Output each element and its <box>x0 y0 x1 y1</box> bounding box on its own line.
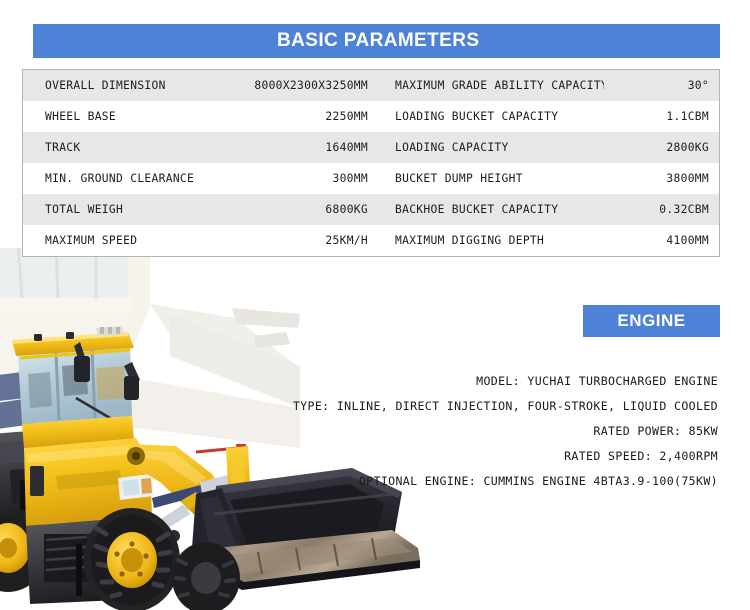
spec-value: 8000X2300X3250MM <box>223 70 374 101</box>
spec-value: 1.1CBM <box>604 101 719 132</box>
side-mirror-left <box>74 342 86 364</box>
table-row: OVERALL DIMENSION 8000X2300X3250MM MAXIM… <box>23 70 719 101</box>
spec-value: 300MM <box>223 163 374 194</box>
basic-parameters-header: BASIC PARAMETERS <box>33 24 720 58</box>
spec-label: MIN. GROUND CLEARANCE <box>23 163 223 194</box>
spec-label: LOADING CAPACITY <box>374 132 604 163</box>
engine-title: ENGINE <box>617 311 685 331</box>
spec-value: 3800MM <box>604 163 719 194</box>
engine-spec-line: MODEL: YUCHAI TURBOCHARGED ENGINE <box>150 369 718 394</box>
table-row: MAXIMUM SPEED 25KM/H MAXIMUM DIGGING DEP… <box>23 225 719 256</box>
table-row: TRACK 1640MM LOADING CAPACITY 2800KG <box>23 132 719 163</box>
rear-chassis <box>0 428 96 516</box>
spec-label: MAXIMUM DIGGING DEPTH <box>374 225 604 256</box>
spec-label: TOTAL WEIGH <box>23 194 223 225</box>
engine-spec-line: OPTIONAL ENGINE: CUMMINS ENGINE 4BTA3.9-… <box>150 469 718 494</box>
spec-value: 30° <box>604 70 719 101</box>
lift-cylinder <box>150 504 190 536</box>
rear-hydraulic <box>0 372 26 402</box>
basic-parameters-title: BASIC PARAMETERS <box>277 30 479 52</box>
engine-spec-line: RATED SPEED: 2,400RPM <box>150 444 718 469</box>
engine-spec-line: RATED POWER: 85KW <box>150 419 718 444</box>
engine-specs-list: MODEL: YUCHAI TURBOCHARGED ENGINE TYPE: … <box>150 369 718 494</box>
spec-label: TRACK <box>23 132 223 163</box>
spec-value: 0.32CBM <box>604 194 719 225</box>
headlight-cluster <box>118 474 154 500</box>
spec-label: BACKHOE BUCKET CAPACITY <box>374 194 604 225</box>
engine-header: ENGINE <box>583 305 720 337</box>
spec-label: MAXIMUM GRADE ABILITY CAPACITY <box>374 70 604 101</box>
spec-label: OVERALL DIMENSION <box>23 70 223 101</box>
rear-wheel <box>0 504 48 592</box>
bucket-cutting-edge <box>212 530 420 582</box>
engine-hood <box>24 438 152 526</box>
front-wheel <box>84 508 180 610</box>
mid-wheel <box>172 542 240 610</box>
engine-spec-line: TYPE: INLINE, DIRECT INJECTION, FOUR-STR… <box>150 394 718 419</box>
spec-value: 2250MM <box>223 101 374 132</box>
table-row: MIN. GROUND CLEARANCE 300MM BUCKET DUMP … <box>23 163 719 194</box>
table-row: WHEEL BASE 2250MM LOADING BUCKET CAPACIT… <box>23 101 719 132</box>
front-fender <box>86 524 170 578</box>
side-mirror-right <box>124 362 140 384</box>
spec-value: 6800KG <box>223 194 374 225</box>
operator-cab <box>12 326 140 448</box>
spec-value: 2800KG <box>604 132 719 163</box>
front-chassis <box>26 516 158 604</box>
spec-label: WHEEL BASE <box>23 101 223 132</box>
spec-label: LOADING BUCKET CAPACITY <box>374 101 604 132</box>
basic-parameters-table: OVERALL DIMENSION 8000X2300X3250MM MAXIM… <box>22 69 720 257</box>
spec-value: 4100MM <box>604 225 719 256</box>
spec-value: 1640MM <box>223 132 374 163</box>
spec-label: BUCKET DUMP HEIGHT <box>374 163 604 194</box>
spec-value: 25KM/H <box>223 225 374 256</box>
spec-label: MAXIMUM SPEED <box>23 225 223 256</box>
table-row: TOTAL WEIGH 6800KG BACKHOE BUCKET CAPACI… <box>23 194 719 225</box>
